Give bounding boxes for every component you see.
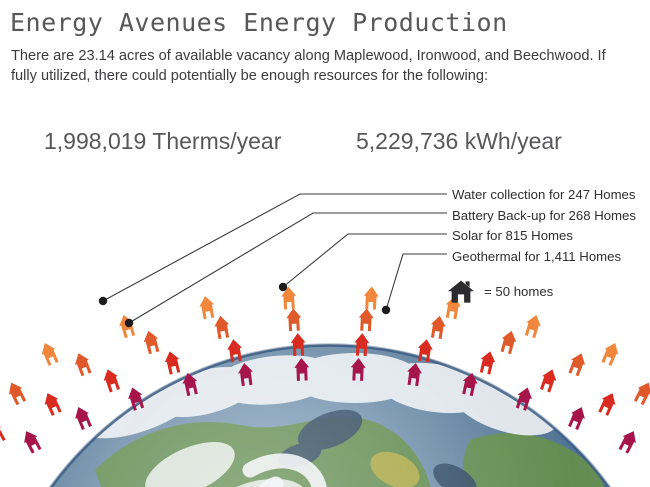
house-icon <box>281 286 297 309</box>
house-icon <box>358 308 374 331</box>
house-icon <box>198 295 217 320</box>
house-icon <box>596 390 619 417</box>
earth-globe <box>0 343 650 487</box>
globe-surface <box>0 345 650 487</box>
house-icon <box>567 351 589 377</box>
house-icon <box>286 308 302 331</box>
page-title: Energy Avenues Energy Production <box>10 8 508 37</box>
callout-label-list: Water collection for 247 Homes Battery B… <box>452 185 650 267</box>
callout-label-geothermal: Geothermal for 1,411 Homes <box>452 247 650 268</box>
house-icon <box>116 313 137 339</box>
callout-label-battery-backup: Battery Back-up for 268 Homes <box>452 206 650 227</box>
house-icon <box>38 340 60 367</box>
house-icon <box>41 390 64 417</box>
house-icon <box>566 404 588 431</box>
intro-paragraph: There are 23.14 acres of available vacan… <box>11 47 611 86</box>
house-icon <box>101 367 122 393</box>
house-icon <box>499 329 519 355</box>
house-icon <box>617 428 641 455</box>
house-icon <box>72 351 94 377</box>
house-icon <box>141 329 161 355</box>
house-icon <box>0 419 7 446</box>
house-icon <box>600 340 622 367</box>
house-icon <box>429 315 447 340</box>
callout-label-solar: Solar for 815 Homes <box>452 226 650 247</box>
house-icon <box>20 428 44 455</box>
stat-kwh-per-year: 5,229,736 kWh/year <box>356 128 562 155</box>
callout-label-water-collection: Water collection for 247 Homes <box>452 185 650 206</box>
stat-therms-per-year: 1,998,019 Therms/year <box>44 128 281 155</box>
house-icon <box>162 350 182 375</box>
house-icon <box>632 379 650 406</box>
infographic-root: Energy Avenues Energy Production There a… <box>0 0 650 487</box>
house-icon <box>363 286 379 309</box>
house-icon <box>71 404 93 431</box>
house-icon <box>213 315 231 340</box>
house-icon <box>447 279 475 304</box>
house-icon <box>523 313 544 339</box>
legend-key: = 50 homes <box>447 279 553 304</box>
house-icon <box>478 350 498 375</box>
legend-key-label: = 50 homes <box>484 284 553 299</box>
house-icon <box>5 379 28 406</box>
stats-row: 1,998,019 Therms/year 5,229,736 kWh/year <box>0 128 650 168</box>
house-icon <box>538 367 559 393</box>
